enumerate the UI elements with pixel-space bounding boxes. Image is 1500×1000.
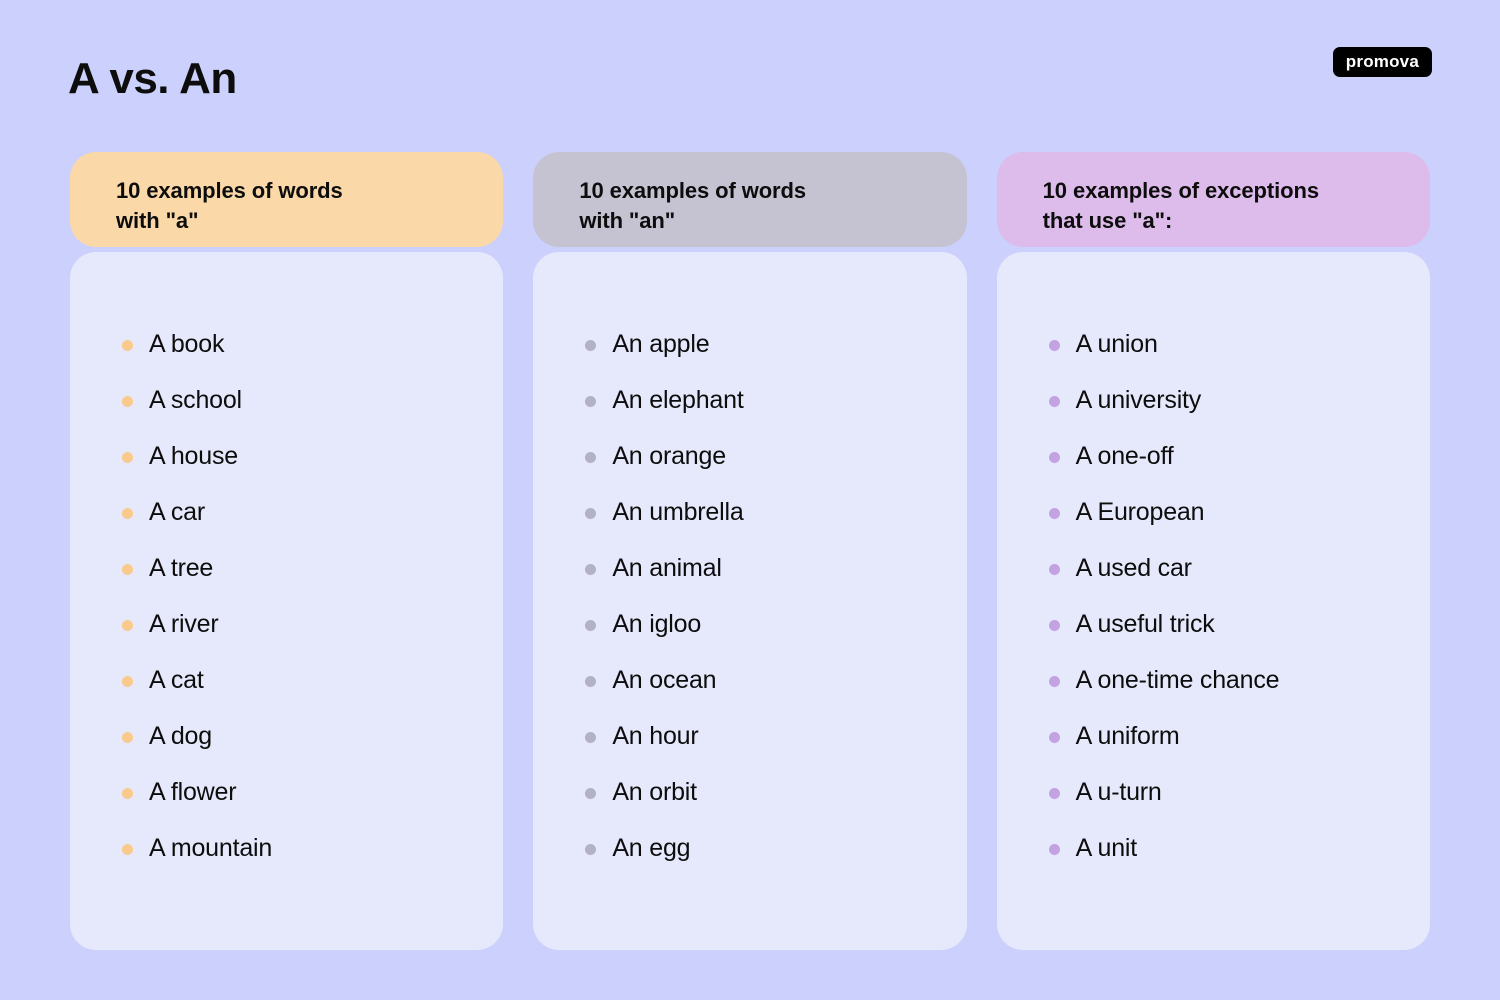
bullet-icon: [1049, 620, 1060, 631]
column-body-exceptions: A union A university A one-off A Europea…: [997, 252, 1430, 950]
bullet-icon: [1049, 340, 1060, 351]
list-item-label: A dog: [149, 723, 212, 751]
list-item-label: A university: [1076, 387, 1201, 415]
list-item-label: A u-turn: [1076, 779, 1162, 807]
bullet-icon: [585, 564, 596, 575]
list-item: A one-time chance: [1049, 653, 1410, 709]
word-list-an: An apple An elephant An orange An umbrel…: [585, 317, 946, 877]
bullet-icon: [122, 452, 133, 463]
list-item: A house: [122, 429, 483, 485]
bullet-icon: [122, 844, 133, 855]
list-item: A flower: [122, 765, 483, 821]
list-item-label: A river: [149, 611, 218, 639]
list-item-label: A house: [149, 443, 238, 471]
list-item-label: An orbit: [612, 779, 697, 807]
bullet-icon: [1049, 564, 1060, 575]
list-item-label: A uniform: [1076, 723, 1180, 751]
bullet-icon: [585, 508, 596, 519]
list-item-label: A used car: [1076, 555, 1192, 583]
column-header-words-with-an: 10 examples of words with "an": [533, 152, 966, 247]
bullet-icon: [585, 788, 596, 799]
list-item: A u-turn: [1049, 765, 1410, 821]
list-item-label: An animal: [612, 555, 721, 583]
list-item-label: An umbrella: [612, 499, 743, 527]
bullet-icon: [122, 732, 133, 743]
bullet-icon: [1049, 676, 1060, 687]
list-item: A used car: [1049, 541, 1410, 597]
list-item-label: An egg: [612, 835, 690, 863]
list-item-label: An orange: [612, 443, 726, 471]
bullet-icon: [585, 340, 596, 351]
bullet-icon: [122, 396, 133, 407]
bullet-icon: [122, 620, 133, 631]
column-exceptions-that-use-a: 10 examples of exceptions that use "a": …: [997, 152, 1430, 950]
bullet-icon: [122, 340, 133, 351]
list-item-label: An elephant: [612, 387, 743, 415]
list-item-label: A tree: [149, 555, 213, 583]
list-item: A tree: [122, 541, 483, 597]
list-item-label: A union: [1076, 331, 1158, 359]
list-item-label: A one-time chance: [1076, 667, 1280, 695]
word-list-exceptions: A union A university A one-off A Europea…: [1049, 317, 1410, 877]
list-item: An egg: [585, 821, 946, 877]
bullet-icon: [585, 452, 596, 463]
list-item: A university: [1049, 373, 1410, 429]
column-body-words-with-a: A book A school A house A car A tree A r…: [70, 252, 503, 950]
word-list-a: A book A school A house A car A tree A r…: [122, 317, 483, 877]
column-words-with-an: 10 examples of words with "an" An apple …: [533, 152, 966, 950]
list-item: An animal: [585, 541, 946, 597]
list-item: A river: [122, 597, 483, 653]
bullet-icon: [1049, 396, 1060, 407]
list-item: A European: [1049, 485, 1410, 541]
bullet-icon: [585, 620, 596, 631]
list-item: An apple: [585, 317, 946, 373]
list-item: An orange: [585, 429, 946, 485]
page-title: A vs. An: [68, 57, 237, 101]
list-item-label: A European: [1076, 499, 1205, 527]
list-item-label: An ocean: [612, 667, 716, 695]
list-item-label: A one-off: [1076, 443, 1174, 471]
list-item: A car: [122, 485, 483, 541]
list-item: A dog: [122, 709, 483, 765]
column-words-with-a: 10 examples of words with "a" A book A s…: [70, 152, 503, 950]
list-item: A useful trick: [1049, 597, 1410, 653]
bullet-icon: [1049, 844, 1060, 855]
bullet-icon: [585, 844, 596, 855]
bullet-icon: [122, 508, 133, 519]
bullet-icon: [1049, 452, 1060, 463]
list-item: A mountain: [122, 821, 483, 877]
list-item-label: An apple: [612, 331, 709, 359]
column-body-words-with-an: An apple An elephant An orange An umbrel…: [533, 252, 966, 950]
list-item: An ocean: [585, 653, 946, 709]
column-header-words-with-a: 10 examples of words with "a": [70, 152, 503, 247]
list-item-label: A mountain: [149, 835, 272, 863]
list-item-label: A unit: [1076, 835, 1137, 863]
list-item: A union: [1049, 317, 1410, 373]
list-item: An hour: [585, 709, 946, 765]
list-item: A one-off: [1049, 429, 1410, 485]
list-item-label: An igloo: [612, 611, 701, 639]
bullet-icon: [122, 788, 133, 799]
column-header-exceptions: 10 examples of exceptions that use "a":: [997, 152, 1430, 247]
bullet-icon: [1049, 732, 1060, 743]
bullet-icon: [585, 396, 596, 407]
list-item-label: An hour: [612, 723, 698, 751]
list-item-label: A book: [149, 331, 224, 359]
bullet-icon: [122, 676, 133, 687]
list-item: An umbrella: [585, 485, 946, 541]
list-item-label: A cat: [149, 667, 204, 695]
list-item: A uniform: [1049, 709, 1410, 765]
promova-logo: promova: [1333, 47, 1432, 77]
list-item-label: A useful trick: [1076, 611, 1215, 639]
bullet-icon: [585, 676, 596, 687]
list-item: A unit: [1049, 821, 1410, 877]
list-item-label: A car: [149, 499, 205, 527]
list-item: A school: [122, 373, 483, 429]
list-item: An igloo: [585, 597, 946, 653]
list-item: An orbit: [585, 765, 946, 821]
bullet-icon: [122, 564, 133, 575]
list-item: An elephant: [585, 373, 946, 429]
bullet-icon: [1049, 788, 1060, 799]
list-item: A cat: [122, 653, 483, 709]
bullet-icon: [1049, 508, 1060, 519]
list-item-label: A school: [149, 387, 242, 415]
list-item: A book: [122, 317, 483, 373]
columns-container: 10 examples of words with "a" A book A s…: [70, 152, 1430, 950]
list-item-label: A flower: [149, 779, 236, 807]
bullet-icon: [585, 732, 596, 743]
